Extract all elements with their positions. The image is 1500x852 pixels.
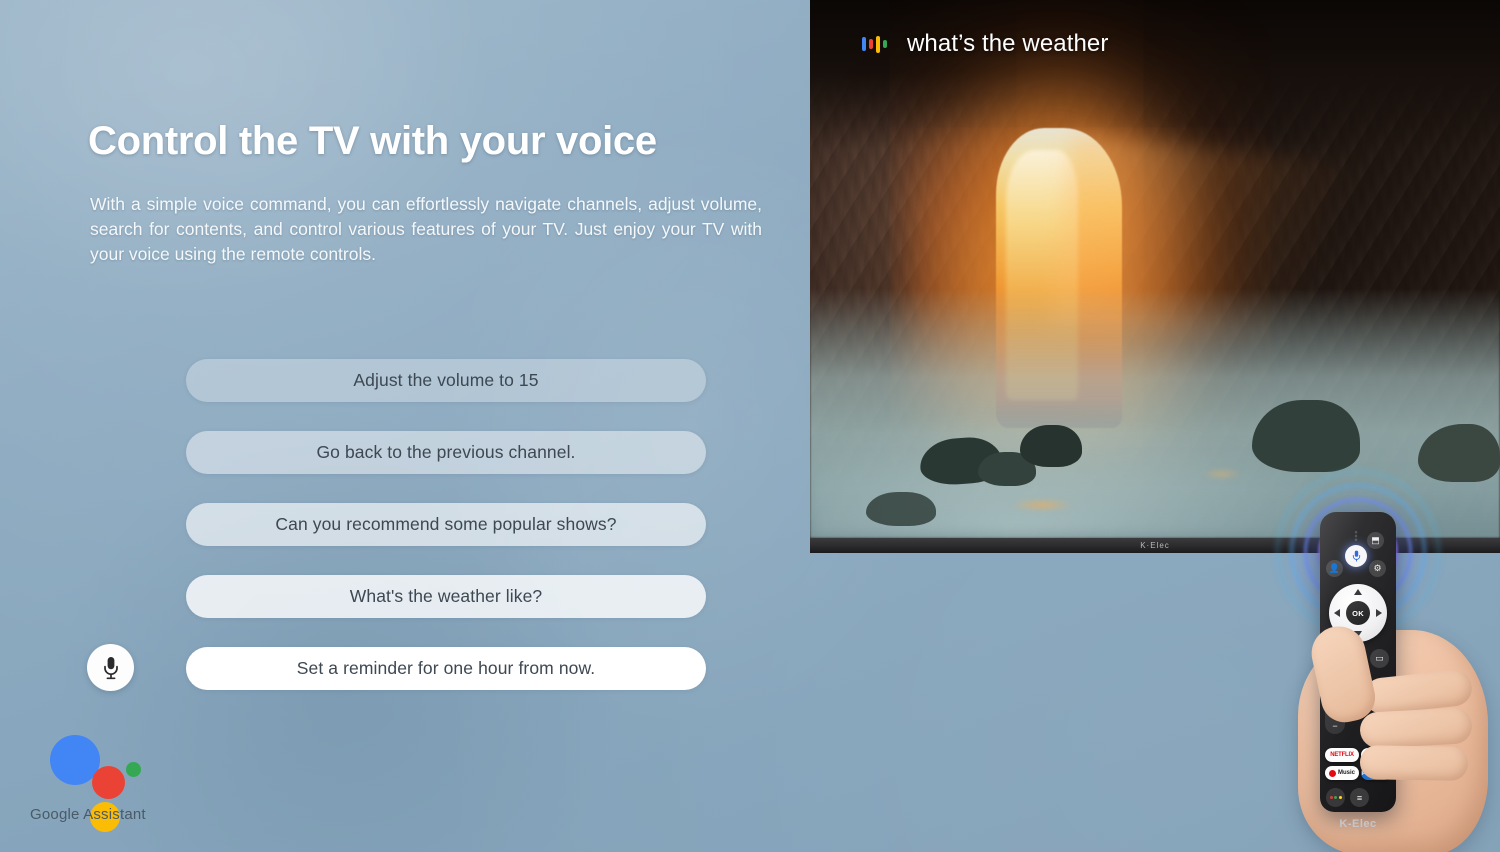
- voice-command-list: Adjust the volume to 15 Go back to the p…: [186, 359, 706, 690]
- assistant-dot-red-icon: [92, 766, 125, 799]
- cave-scene-water-glimmer: [1010, 500, 1074, 510]
- microphone-icon: [102, 656, 120, 680]
- tv-brand-label: K·Elec: [1140, 541, 1170, 550]
- dpad-left-icon[interactable]: [1334, 609, 1340, 617]
- remote-tv-icon[interactable]: ▭: [1370, 649, 1389, 668]
- remote-color-buttons-icon[interactable]: [1326, 788, 1345, 807]
- hand-holding-remote: 👤 ⬒ ⚙ OK ← ⌂ ▭ ∧ + VOL − NETFLIX ▶: [1280, 498, 1500, 852]
- cave-scene-rock-shape: [866, 492, 936, 526]
- dpad-up-icon[interactable]: [1354, 589, 1362, 595]
- page-description: With a simple voice command, you can eff…: [90, 192, 762, 267]
- hand-finger: [1360, 745, 1469, 781]
- voice-command-label: Go back to the previous channel.: [316, 442, 575, 463]
- promo-page: Control the TV with your voice With a si…: [0, 0, 1500, 852]
- cave-scene-rock-shape: [1020, 425, 1082, 467]
- remote-youtube-music-button[interactable]: Music: [1325, 766, 1359, 780]
- assistant-waveform-icon: [862, 34, 887, 54]
- remote-settings-gear-icon[interactable]: ⚙: [1369, 560, 1386, 577]
- volume-down-label[interactable]: −: [1332, 721, 1337, 731]
- voice-command-label: Set a reminder for one hour from now.: [297, 658, 595, 679]
- remote-menu-icon[interactable]: ≡: [1350, 788, 1369, 807]
- voice-command-pill[interactable]: Go back to the previous channel.: [186, 431, 706, 474]
- remote-mic-button[interactable]: [1345, 545, 1367, 567]
- page-title: Control the TV with your voice: [88, 118, 788, 164]
- remote-speaker-dots-icon: [1352, 531, 1360, 541]
- remote-netflix-button[interactable]: NETFLIX: [1325, 748, 1359, 762]
- voice-command-pill[interactable]: Can you recommend some popular shows?: [186, 503, 706, 546]
- assistant-caption: what’s the weather: [862, 30, 1108, 58]
- remote-brand-label: K-Elec: [1320, 818, 1396, 830]
- voice-command-pill[interactable]: Adjust the volume to 15: [186, 359, 706, 402]
- assistant-dot-green-icon: [126, 762, 141, 777]
- microphone-icon: [1352, 550, 1361, 562]
- cave-scene-water-glimmer: [1202, 470, 1242, 478]
- voice-command-label: What's the weather like?: [350, 586, 543, 607]
- youtube-music-icon: [1329, 770, 1336, 777]
- voice-command-label: Can you recommend some popular shows?: [275, 514, 616, 535]
- voice-command-pill[interactable]: What's the weather like?: [186, 575, 706, 618]
- tv-screen: what’s the weather: [810, 0, 1500, 538]
- google-assistant-label: Google Assistant: [30, 806, 200, 823]
- voice-command-pill[interactable]: Set a reminder for one hour from now.: [186, 647, 706, 690]
- google-assistant-logo: Google Assistant: [42, 730, 172, 825]
- television: what’s the weather K·Elec: [810, 0, 1500, 553]
- assistant-caption-text: what’s the weather: [907, 30, 1108, 58]
- voice-command-label: Adjust the volume to 15: [353, 370, 538, 391]
- remote-profile-icon[interactable]: 👤: [1326, 560, 1343, 577]
- mic-button[interactable]: [87, 644, 134, 691]
- dpad-right-icon[interactable]: [1376, 609, 1382, 617]
- remote-input-source-icon[interactable]: ⬒: [1367, 532, 1384, 549]
- dpad-ok-button[interactable]: OK: [1346, 601, 1370, 625]
- cave-scene-rock-shape: [1252, 400, 1360, 472]
- music-label: Music: [1338, 770, 1355, 776]
- hand-finger: [1359, 707, 1473, 749]
